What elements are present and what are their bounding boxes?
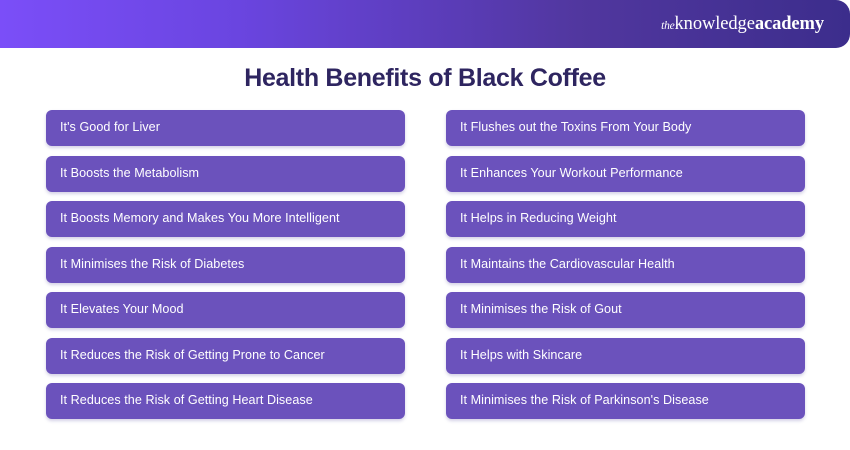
benefit-item: It Elevates Your Mood (46, 292, 405, 328)
brand-logo-prefix: the (661, 20, 674, 32)
benefit-item: It Helps with Skincare (446, 338, 805, 374)
benefit-label: It Flushes out the Toxins From Your Body (460, 121, 691, 135)
benefit-label: It Helps with Skincare (460, 349, 582, 363)
benefit-label: It Minimises the Risk of Parkinson's Dis… (460, 394, 709, 408)
benefit-label: It Reduces the Risk of Getting Prone to … (60, 349, 325, 363)
benefits-left-column: It's Good for Liver It Boosts the Metabo… (46, 110, 405, 419)
brand-logo-suffix: academy (755, 14, 824, 34)
benefit-item: It Minimises the Risk of Diabetes (46, 247, 405, 283)
benefits-container: It's Good for Liver It Boosts the Metabo… (46, 110, 805, 419)
benefit-label: It Enhances Your Workout Performance (460, 167, 683, 181)
benefit-label: It Elevates Your Mood (60, 303, 184, 317)
brand-logo[interactable]: theknowledgeacademy (661, 15, 824, 34)
benefit-label: It Maintains the Cardiovascular Health (460, 258, 675, 272)
page-title: Health Benefits of Black Coffee (0, 63, 850, 93)
benefit-label: It Minimises the Risk of Gout (460, 303, 622, 317)
benefit-item: It Flushes out the Toxins From Your Body (446, 110, 805, 146)
benefit-item: It Boosts Memory and Makes You More Inte… (46, 201, 405, 237)
benefit-label: It's Good for Liver (60, 121, 160, 135)
benefit-label: It Reduces the Risk of Getting Heart Dis… (60, 394, 313, 408)
benefit-item: It Maintains the Cardiovascular Health (446, 247, 805, 283)
benefit-label: It Minimises the Risk of Diabetes (60, 258, 244, 272)
benefits-right-column: It Flushes out the Toxins From Your Body… (446, 110, 805, 419)
benefit-label: It Boosts Memory and Makes You More Inte… (60, 212, 340, 226)
benefit-item: It Reduces the Risk of Getting Heart Dis… (46, 383, 405, 419)
benefit-item: It Reduces the Risk of Getting Prone to … (46, 338, 405, 374)
benefit-item: It Helps in Reducing Weight (446, 201, 805, 237)
benefit-label: It Helps in Reducing Weight (460, 212, 617, 226)
brand-logo-middle: knowledge (675, 14, 755, 34)
benefit-item: It Enhances Your Workout Performance (446, 156, 805, 192)
benefit-item: It Minimises the Risk of Parkinson's Dis… (446, 383, 805, 419)
benefit-item: It's Good for Liver (46, 110, 405, 146)
benefit-item: It Boosts the Metabolism (46, 156, 405, 192)
benefit-label: It Boosts the Metabolism (60, 167, 199, 181)
header-bar: theknowledgeacademy (0, 0, 850, 48)
benefit-item: It Minimises the Risk of Gout (446, 292, 805, 328)
